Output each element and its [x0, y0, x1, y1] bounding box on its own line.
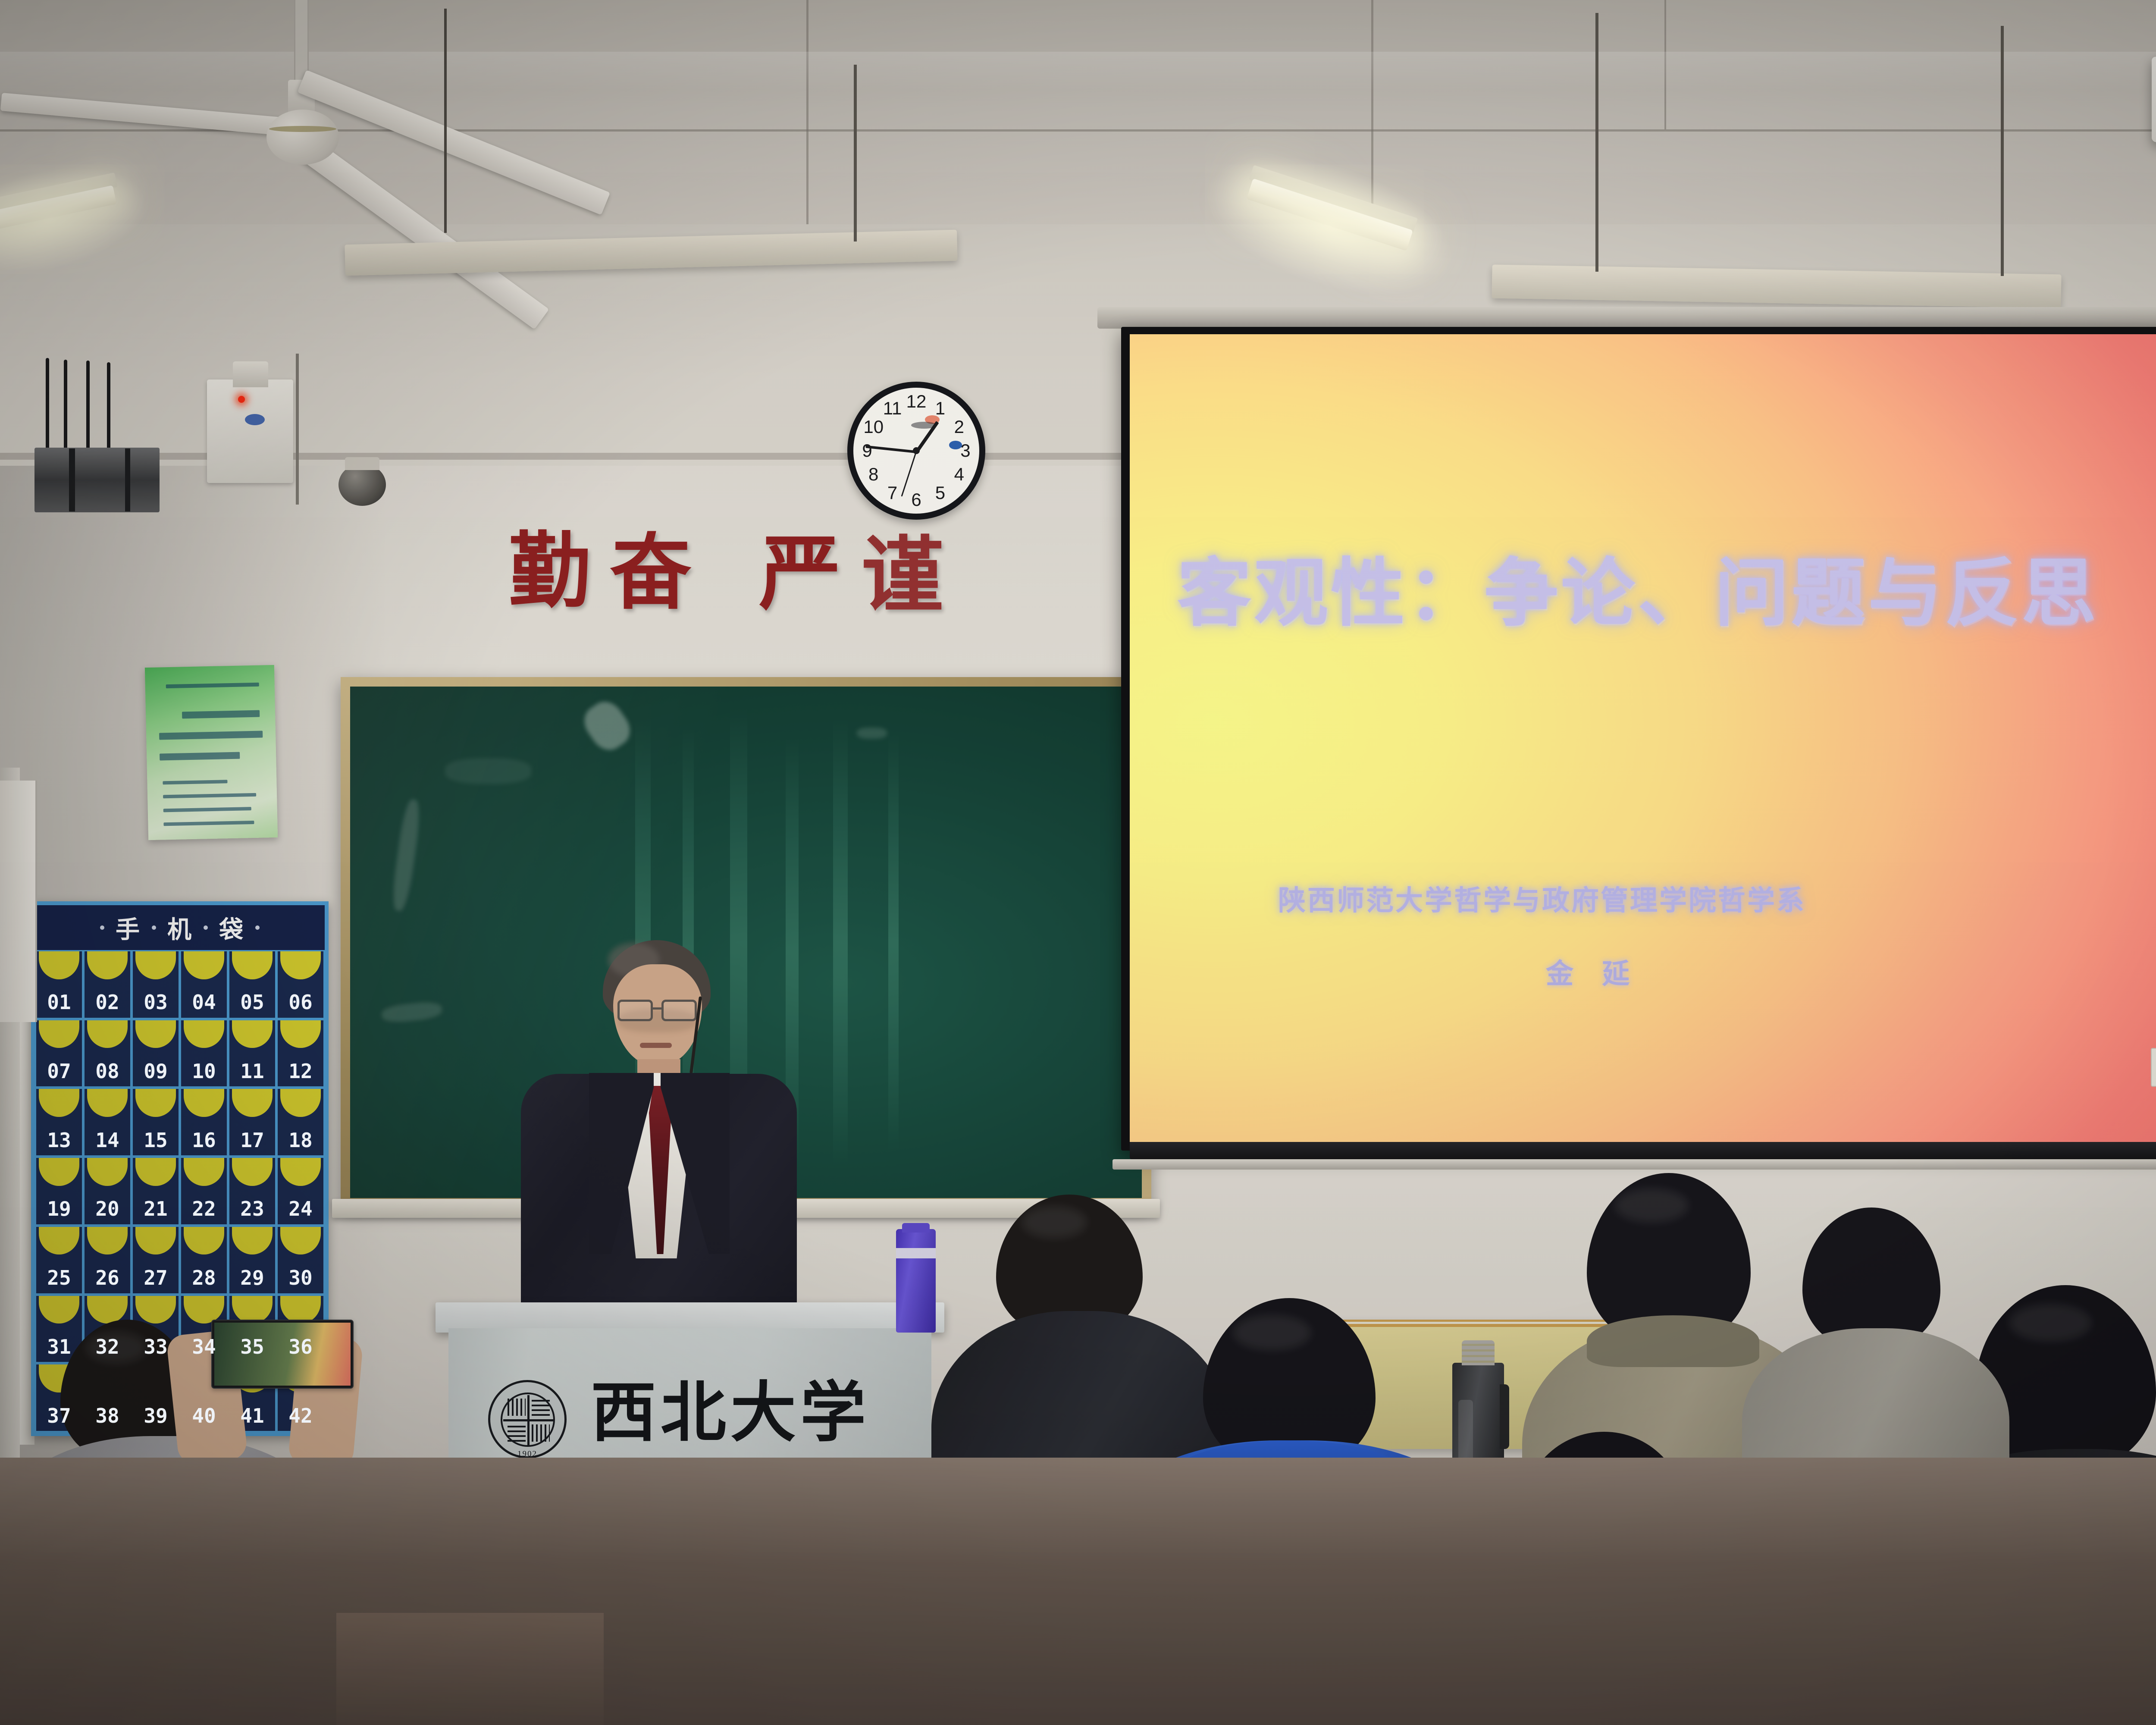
pocket-number: 22: [192, 1197, 216, 1224]
screen-roller-housing[interactable]: [1097, 307, 2156, 329]
pocket-row: 192021222324: [35, 1157, 325, 1226]
university-seal: 1902: [488, 1380, 567, 1458]
pocket-number: 14: [95, 1129, 119, 1155]
pocket-cell-05[interactable]: 05: [228, 950, 276, 1019]
pocket-number: 28: [192, 1266, 216, 1293]
motto-char-1: 勤: [509, 530, 591, 612]
pocket-number: 02: [95, 991, 119, 1017]
ac-unit-left: [0, 781, 37, 1022]
pocket-cell-07[interactable]: 07: [35, 1019, 83, 1088]
pocket-number: 19: [47, 1197, 71, 1224]
pocket-number: 17: [240, 1129, 264, 1155]
pocket-number: 20: [95, 1197, 119, 1224]
motto-char-2: 奋: [610, 532, 692, 614]
safety-notice-poster: [145, 665, 278, 840]
pocket-number: 23: [240, 1197, 264, 1224]
pocket-cell-16[interactable]: 16: [180, 1088, 228, 1157]
pocket-cell-01[interactable]: 01: [35, 950, 83, 1019]
pocket-cell-21[interactable]: 21: [132, 1157, 180, 1226]
valance-hanger-3: [2001, 26, 2004, 276]
pocket-number: 32: [95, 1335, 119, 1362]
pocket-cell-06[interactable]: 06: [276, 950, 325, 1019]
pocket-number: 11: [240, 1060, 264, 1086]
pocket-cell-24[interactable]: 24: [276, 1157, 325, 1226]
pocket-cell-03[interactable]: 03: [132, 950, 180, 1019]
pocket-number: 29: [240, 1266, 264, 1293]
motto-char-3: 严: [759, 533, 841, 615]
pocket-number: 06: [288, 991, 312, 1017]
podium-name-cn: 西北大学: [591, 1380, 870, 1446]
pocket-row: 070809101112: [35, 1019, 325, 1088]
pocket-number: 18: [288, 1129, 312, 1155]
pocket-cell-10[interactable]: 10: [180, 1019, 228, 1088]
pocket-number: 35: [240, 1335, 264, 1362]
wall-clock: 12 1 2 3 4 5 6 7 8 9 10 11: [847, 382, 985, 520]
pocket-number: 34: [192, 1335, 216, 1362]
pocket-number: 05: [240, 991, 264, 1017]
pocket-cell-23[interactable]: 23: [228, 1157, 276, 1226]
pocket-number: 40: [192, 1404, 216, 1431]
pocket-cell-02[interactable]: 02: [83, 950, 132, 1019]
wall-control-box[interactable]: [207, 379, 293, 483]
signal-jammer: [17, 345, 172, 543]
status-led: [238, 396, 245, 403]
lecture-hall-photo: 12 1 2 3 4 5 6 7 8 9 10 11 勤 奋 严 谨: [0, 0, 2156, 1725]
pocket-number: 37: [47, 1404, 71, 1431]
pocket-number: 01: [47, 991, 71, 1017]
pocket-number: 13: [47, 1129, 71, 1155]
pocket-cell-19[interactable]: 19: [35, 1157, 83, 1226]
pocket-cell-18[interactable]: 18: [276, 1088, 325, 1157]
pocket-cell-20[interactable]: 20: [83, 1157, 132, 1226]
pocket-cell-11[interactable]: 11: [228, 1019, 276, 1088]
pocket-board-header: 手 机 袋: [35, 905, 325, 950]
pocket-number: 41: [240, 1404, 264, 1431]
screen-bottom-weight: [1112, 1159, 2156, 1170]
pocket-row: 131415161718: [35, 1088, 325, 1157]
screen-bottom-bar: [1130, 1142, 2156, 1159]
pocket-number: 25: [47, 1266, 71, 1293]
pocket-number: 12: [288, 1060, 312, 1086]
pocket-header-char-1: 手: [116, 910, 141, 945]
projection-screen: 客观性：争论、问题与反思 陕西师范大学哲学与政府管理学院哲学系 金 延: [1130, 334, 2156, 1143]
pocket-cell-14[interactable]: 14: [83, 1088, 132, 1157]
motto-char-4: 谨: [862, 535, 943, 617]
pocket-cell-08[interactable]: 08: [83, 1019, 132, 1088]
pocket-cell-12[interactable]: 12: [276, 1019, 325, 1088]
pocket-number: 39: [144, 1404, 167, 1431]
pocket-number: 42: [288, 1404, 312, 1431]
pocket-number: 03: [144, 991, 167, 1017]
pocket-number: 33: [144, 1335, 167, 1362]
pocket-number: 07: [47, 1060, 71, 1086]
slide-author: 金 延: [1546, 952, 1639, 991]
pocket-row: 010203040506: [35, 950, 325, 1019]
pocket-cell-22[interactable]: 22: [180, 1157, 228, 1226]
pocket-cell-13[interactable]: 13: [35, 1088, 83, 1157]
pocket-number: 10: [192, 1060, 216, 1086]
pocket-number: 15: [144, 1129, 167, 1155]
pocket-number: 38: [95, 1404, 119, 1431]
ceiling-fan: [172, 0, 621, 203]
pocket-number: 36: [288, 1335, 312, 1362]
pocket-cell-15[interactable]: 15: [132, 1088, 180, 1157]
wall-outlet-lower[interactable]: [2151, 1048, 2156, 1087]
ceiling-projector: [2147, 0, 2156, 181]
pocket-number: 08: [95, 1060, 119, 1086]
pocket-header-char-3: 袋: [219, 910, 244, 945]
pocket-cell-04[interactable]: 04: [180, 950, 228, 1019]
slide-title: 客观性：争论、问题与反思: [1177, 533, 2098, 640]
wall-motto: 勤 奋 严 谨: [509, 530, 1181, 643]
floor: [0, 1458, 2156, 1725]
valance-hanger-2: [1595, 13, 1598, 272]
pocket-number: 30: [288, 1266, 312, 1293]
lecturer-glasses: [617, 1000, 653, 1021]
pocket-number: 24: [288, 1197, 312, 1224]
pocket-number: 09: [144, 1060, 167, 1086]
pocket-header-char-2: 机: [167, 910, 192, 945]
pocket-number: 26: [95, 1266, 119, 1293]
pocket-number: 21: [144, 1197, 167, 1224]
pocket-number: 27: [144, 1266, 167, 1293]
slide-subtitle: 陕西师范大学哲学与政府管理学院哲学系: [1278, 878, 1806, 918]
ceiling-hook-wire: [444, 9, 447, 233]
valance-hanger-1: [854, 65, 857, 241]
pocket-number: 04: [192, 991, 216, 1017]
pocket-cell-09[interactable]: 09: [132, 1019, 180, 1088]
pocket-cell-17[interactable]: 17: [228, 1088, 276, 1157]
pocket-number: 31: [47, 1335, 71, 1362]
pocket-number: 16: [192, 1129, 216, 1155]
smartphone-recording[interactable]: [211, 1320, 354, 1389]
